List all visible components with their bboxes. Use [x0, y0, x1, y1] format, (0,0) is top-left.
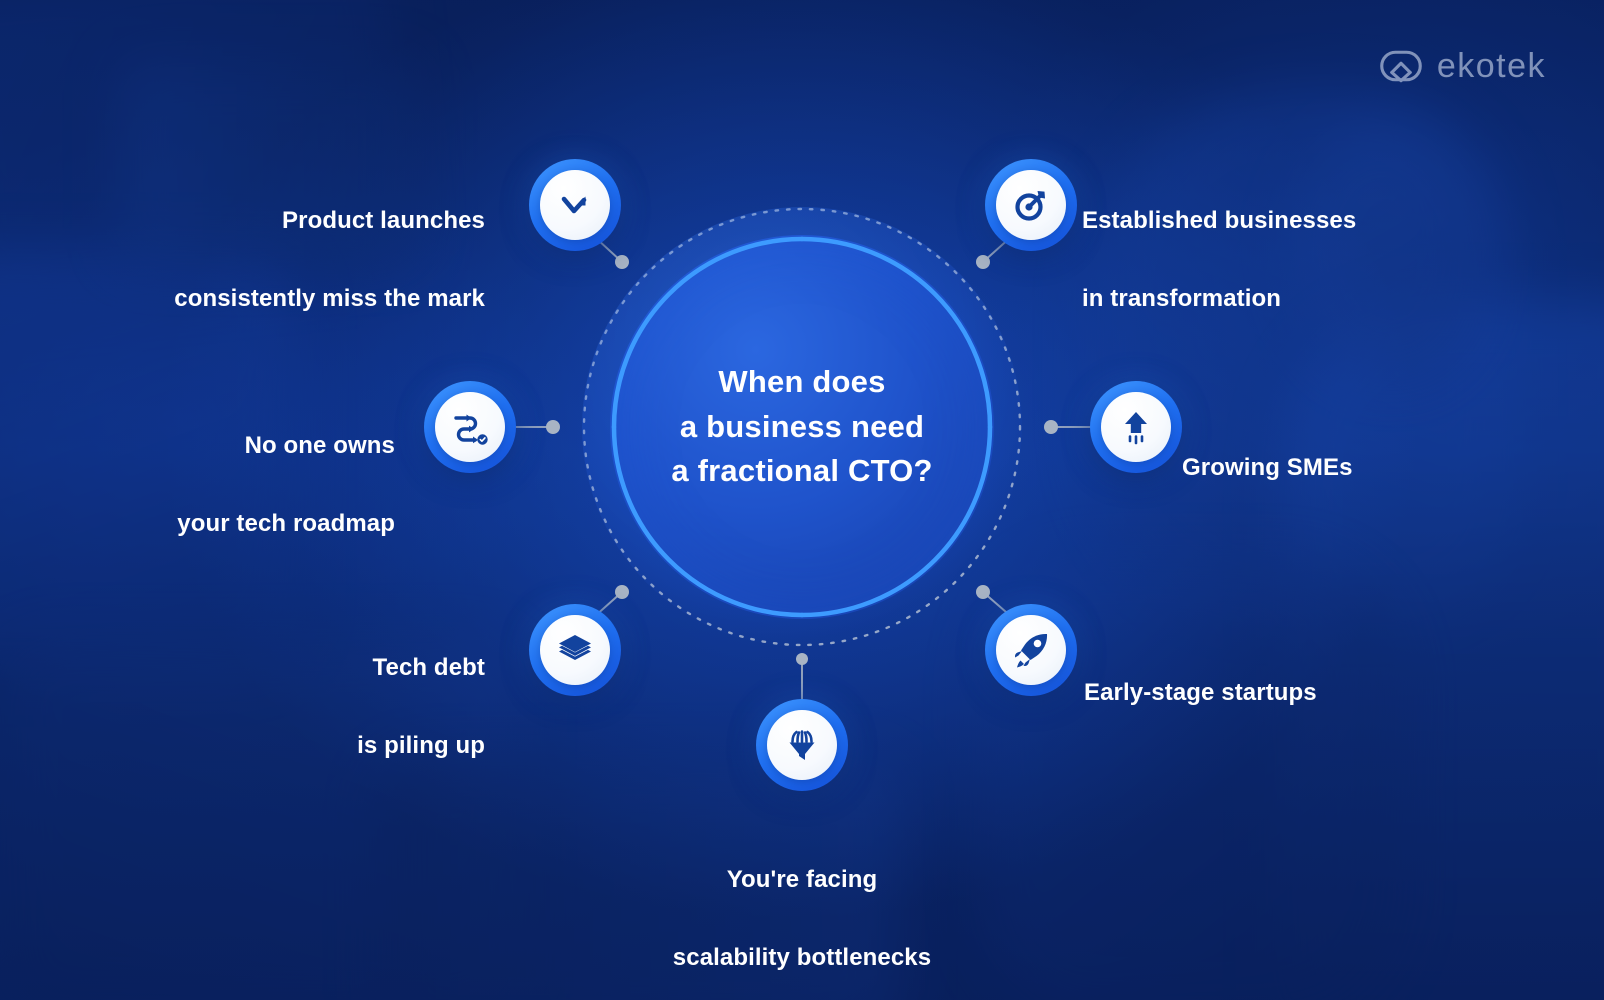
node-inner-circle [996, 615, 1066, 685]
infographic-canvas: ekotek When [0, 0, 1604, 1000]
node-inner-circle [435, 392, 505, 462]
route-roadmap-icon [450, 407, 490, 447]
brand-wordmark: ekotek [1437, 47, 1546, 86]
hub-question-line2: a business need [680, 405, 924, 450]
node-tech-roadmap[interactable] [424, 381, 516, 473]
hub-question-line3: a fractional CTO? [671, 449, 932, 494]
label-line1: Product launches [120, 202, 485, 241]
node-inner-circle [540, 170, 610, 240]
rocket-icon [1011, 630, 1051, 670]
label-line1: You're facing [602, 861, 1002, 900]
node-inner-circle [996, 170, 1066, 240]
target-dart-icon [1012, 186, 1050, 224]
label-line1: Established businesses [1082, 202, 1482, 241]
label-line2: scalability bottlenecks [602, 939, 1002, 978]
label-tech-roadmap: No one owns your tech roadmap [110, 388, 395, 582]
ekotek-infinity-mark-icon [1379, 44, 1423, 88]
node-established-businesses[interactable] [985, 159, 1077, 251]
layers-stack-icon [555, 630, 595, 670]
node-tech-debt[interactable] [529, 604, 621, 696]
hub-question: When does a business need a fractional C… [582, 207, 1022, 647]
brand-logo: ekotek [1379, 44, 1546, 88]
label-scalability-bottlenecks: You're facing scalability bottlenecks [602, 822, 1002, 1000]
node-inner-circle [767, 710, 837, 780]
node-product-launches[interactable] [529, 159, 621, 251]
node-scalability-bottlenecks[interactable] [756, 699, 848, 791]
label-line2: consistently miss the mark [120, 280, 485, 319]
label-line1: No one owns [110, 427, 395, 466]
label-line1: Growing SMEs [1182, 449, 1512, 488]
label-product-launches: Product launches consistently miss the m… [120, 163, 485, 357]
growth-arrow-up-icon [1117, 408, 1155, 446]
label-line2: in transformation [1082, 280, 1482, 319]
label-established-businesses: Established businesses in transformation [1082, 163, 1482, 357]
label-tech-debt: Tech debt is piling up [250, 610, 485, 804]
funnel-bottleneck-icon [783, 726, 821, 764]
label-line2: is piling up [250, 727, 485, 766]
node-inner-circle [1101, 392, 1171, 462]
label-line2: your tech roadmap [110, 505, 395, 544]
label-line1: Tech debt [250, 649, 485, 688]
node-inner-circle [540, 615, 610, 685]
central-hub: When does a business need a fractional C… [582, 207, 1022, 647]
label-early-stage-startups: Early-stage startups [1084, 635, 1434, 752]
label-growing-smes: Growing SMEs [1182, 410, 1512, 527]
node-early-stage-startups[interactable] [985, 604, 1077, 696]
trend-down-arrow-icon [556, 186, 594, 224]
hub-question-line1: When does [718, 360, 885, 405]
label-line1: Early-stage startups [1084, 674, 1434, 713]
node-growing-smes[interactable] [1090, 381, 1182, 473]
